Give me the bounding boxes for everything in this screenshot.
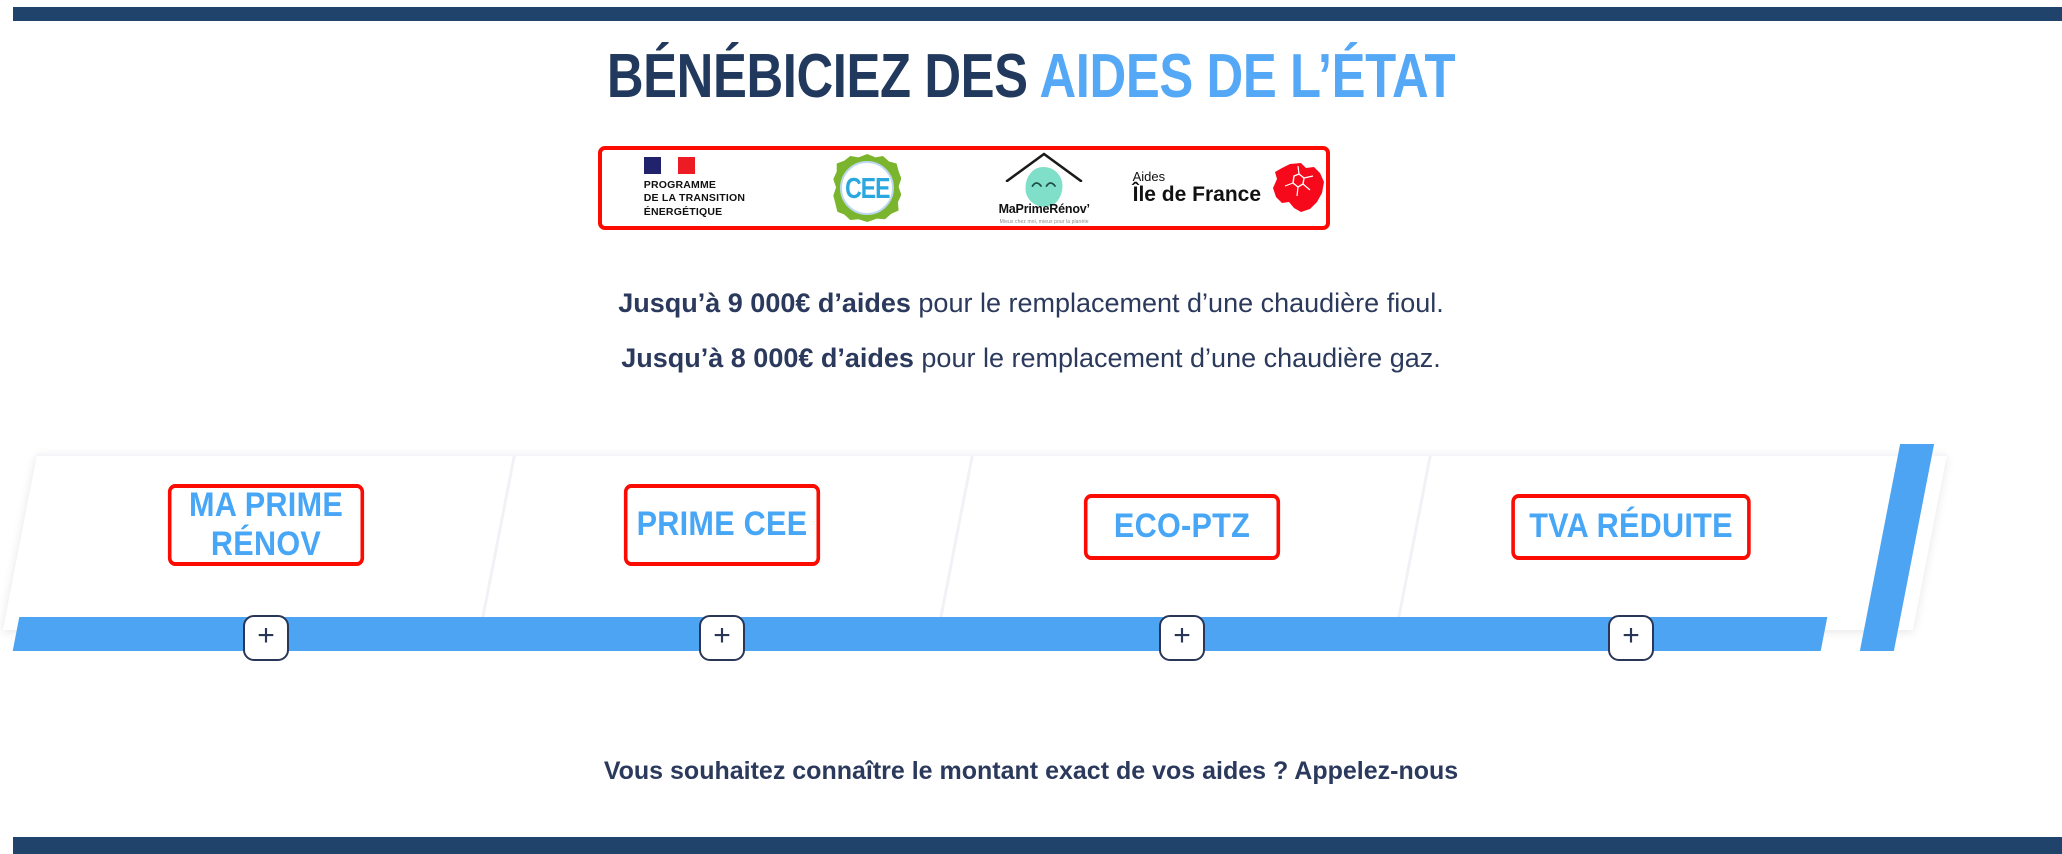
pte-line-2: DE LA TRANSITION: [644, 192, 745, 205]
idf-line-2: Île de France: [1133, 184, 1261, 206]
cee-label: CEE: [845, 171, 889, 205]
expand-button-eco-ptz[interactable]: +: [1159, 615, 1205, 661]
aid-card-label: TVA RÉDUITE: [1529, 507, 1733, 546]
aid-card-tva-reduite[interactable]: TVA RÉDUITE: [1511, 494, 1750, 560]
subtitle-line-2: Jusqu’à 8 000€ d’aides pour le remplacem…: [0, 343, 2062, 374]
panel-divider-3: [1395, 456, 1432, 630]
subtitle-line-1: Jusqu’à 9 000€ d’aides pour le remplacem…: [0, 288, 2062, 319]
aid-card-prime-cee[interactable]: PRIME CEE: [624, 484, 820, 566]
plus-icon: +: [257, 621, 275, 651]
plus-icon: +: [1622, 621, 1640, 651]
subtitle-2-rest: pour le remplacement d’une chaudière gaz…: [914, 343, 1441, 373]
plus-icon: +: [713, 621, 731, 651]
smiling-eyes-icon: [1032, 179, 1057, 188]
expand-button-prime-cee[interactable]: +: [699, 615, 745, 661]
top-navy-rule: [13, 7, 2062, 21]
logo-cee: CEE: [779, 150, 956, 226]
page-title-light-part: AIDES DE L’ÉTAT: [1039, 42, 1455, 111]
logo-programme-transition-energetique: PROGRAMME DE LA TRANSITION ÉNERGÉTIQUE: [602, 150, 779, 226]
expand-button-tva-reduite[interactable]: +: [1608, 615, 1654, 661]
contact-cta-text: Vous souhaitez connaître le montant exac…: [0, 757, 2062, 786]
panel-divider-2: [937, 456, 974, 630]
bottom-navy-rule: [13, 837, 2062, 854]
aid-card-label: ECO-PTZ: [1114, 507, 1250, 546]
plus-icon: +: [1173, 621, 1191, 651]
maprimerenov-name: MaPrimeRénov’: [978, 202, 1110, 216]
expand-button-ma-prime-renov[interactable]: +: [243, 615, 289, 661]
aid-card-ma-prime-renov[interactable]: MA PRIME RÉNOV: [168, 484, 364, 566]
pte-line-1: PROGRAMME: [644, 179, 745, 192]
idf-line-1: Aides: [1133, 170, 1261, 184]
maprimerenov-tagline: Mieux chez moi, mieux pour la planète: [978, 219, 1110, 225]
partner-logo-band: PROGRAMME DE LA TRANSITION ÉNERGÉTIQUE C…: [598, 146, 1330, 230]
logo-maprimerenov: MaPrimeRénov’ Mieux chez moi, mieux pour…: [956, 150, 1133, 226]
subtitle-2-amount: Jusqu’à 8 000€ d’aides: [621, 343, 914, 373]
ile-de-france-map-icon: [1268, 162, 1326, 214]
panel-divider-1: [479, 456, 516, 630]
french-flag-icon: [644, 157, 695, 174]
logo-aides-ile-de-france: Aides Île de France: [1133, 150, 1326, 226]
aid-card-eco-ptz[interactable]: ECO-PTZ: [1084, 494, 1280, 560]
subtitle-1-rest: pour le remplacement d’une chaudière fio…: [911, 288, 1444, 318]
aid-card-label: MA PRIME RÉNOV: [172, 486, 361, 565]
pte-line-3: ÉNERGÉTIQUE: [644, 206, 745, 219]
aid-card-label: PRIME CEE: [637, 505, 808, 544]
aids-panel-zone: MA PRIME RÉNOV PRIME CEE ECO-PTZ TVA RÉD…: [0, 440, 2062, 660]
subtitle-1-amount: Jusqu’à 9 000€ d’aides: [618, 288, 911, 318]
page-title: BÉNÉBICIEZ DES AIDES DE L’ÉTAT: [186, 44, 1877, 109]
page-title-dark-part: BÉNÉBICIEZ DES: [607, 42, 1040, 111]
